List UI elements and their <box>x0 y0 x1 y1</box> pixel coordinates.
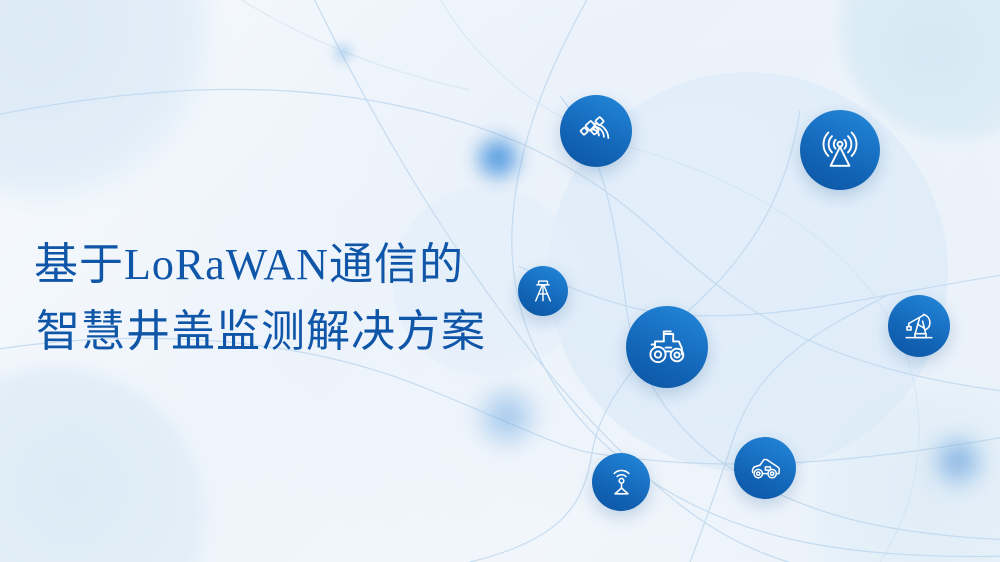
title-line-2: 智慧井盖监测解决方案 <box>34 299 486 366</box>
node-antenna <box>800 110 880 190</box>
tractor-icon <box>643 323 691 371</box>
harvester-icon <box>747 450 783 486</box>
oil-pumpjack-icon <box>901 308 937 344</box>
title-line-1: 基于LoRaWAN通信的 <box>34 232 486 299</box>
cover-slide: 基于LoRaWAN通信的 智慧井盖监测解决方案 <box>0 0 1000 562</box>
wireless-sensor-icon <box>605 466 638 499</box>
radio-tower-icon <box>817 127 863 173</box>
satellite-signal-icon <box>576 111 616 151</box>
node-harvester <box>734 437 796 499</box>
node-tripod <box>518 266 568 316</box>
survey-tripod-icon <box>529 277 557 305</box>
node-pumpjack <box>888 295 950 357</box>
page-title: 基于LoRaWAN通信的 智慧井盖监测解决方案 <box>34 232 486 366</box>
node-satellite <box>560 95 632 167</box>
node-sensor <box>592 453 650 511</box>
node-tractor <box>626 306 708 388</box>
